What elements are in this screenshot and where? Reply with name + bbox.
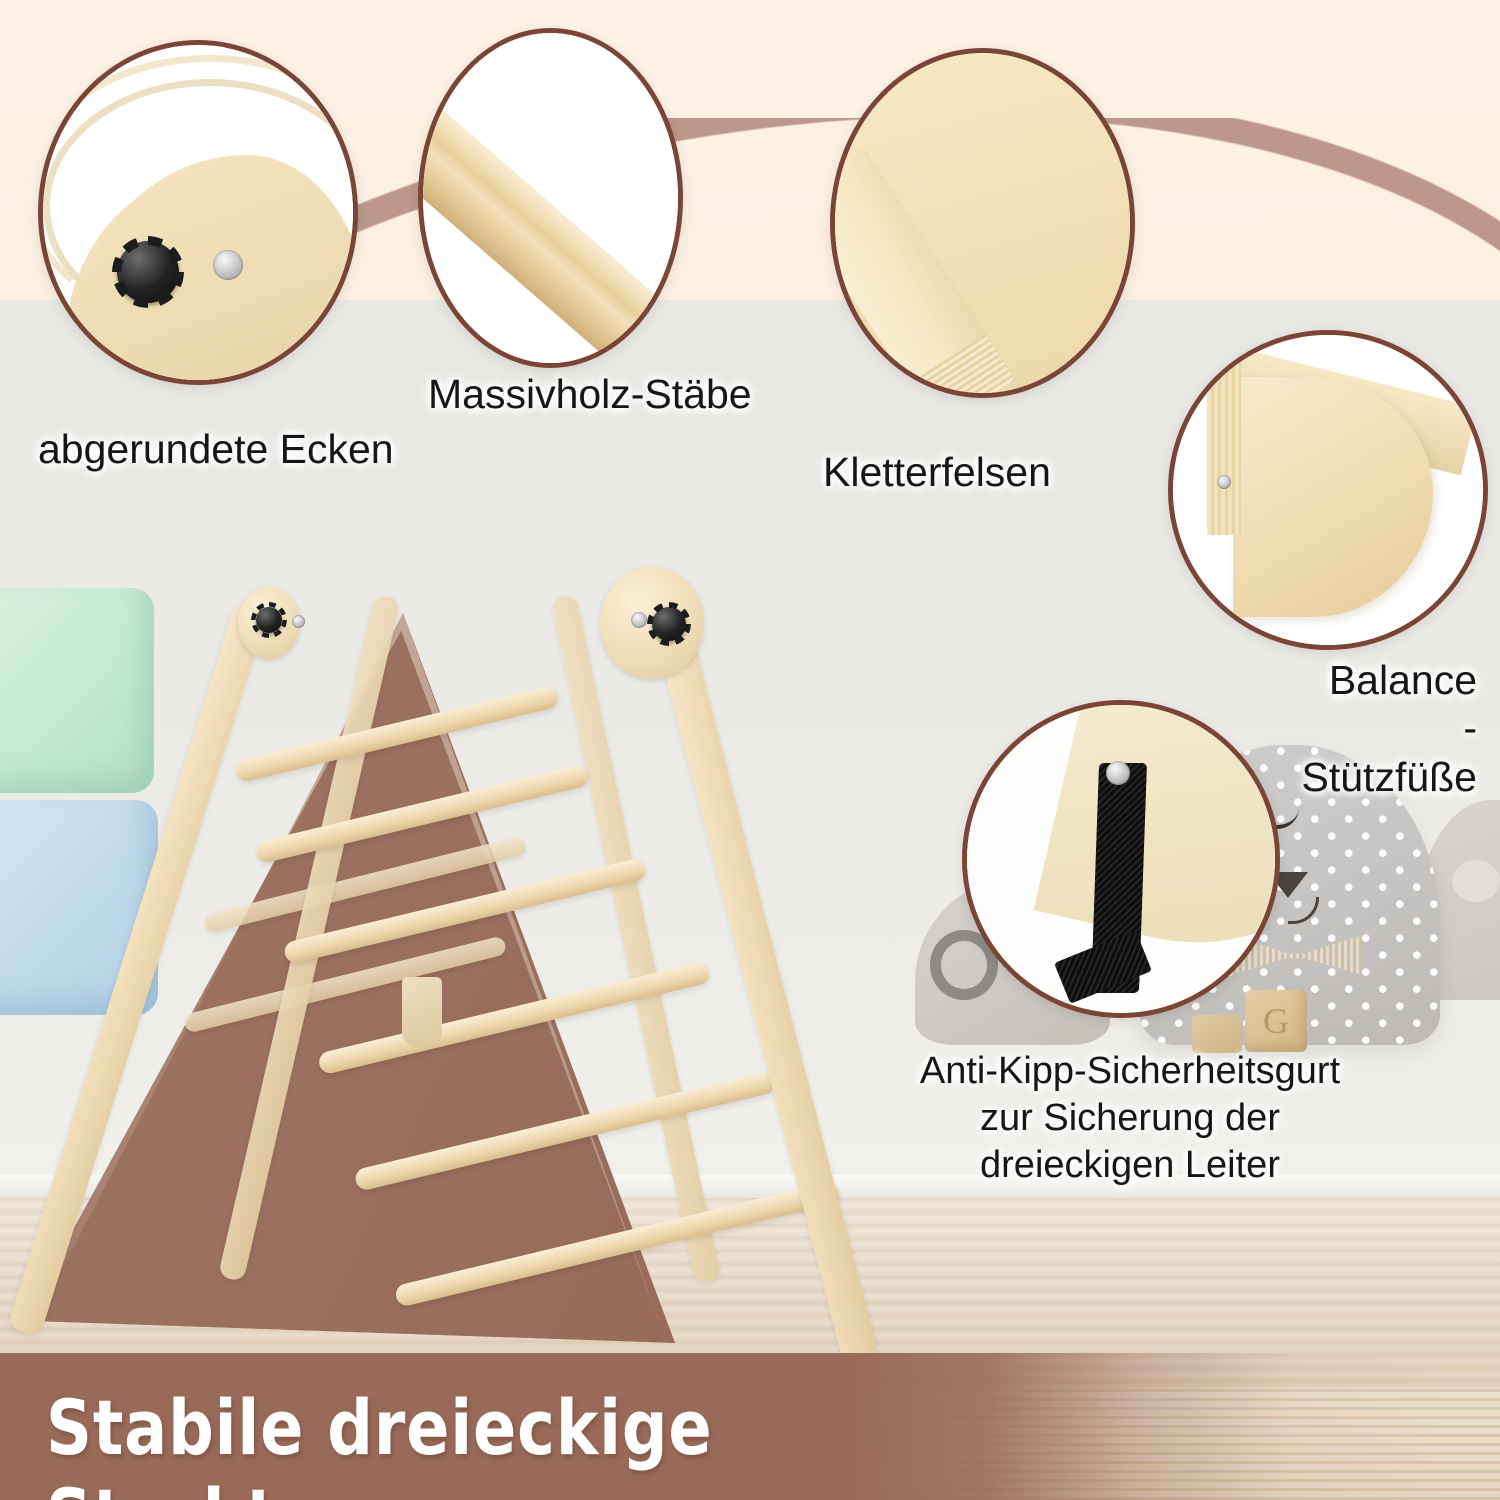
callout-label-rounded-corners: abgerundete Ecken <box>38 425 394 473</box>
callout-label-climbing-rock: Kletterfelsen <box>823 448 1051 496</box>
star-knob-left-icon <box>256 607 282 633</box>
screw-right-icon <box>631 612 647 628</box>
screw-left-icon <box>292 615 305 628</box>
star-knob-right-icon <box>652 607 686 641</box>
callout-label-balance-feet: Balance -Stützfüße <box>1292 656 1477 801</box>
callout-safety-strap-image <box>967 705 1275 1013</box>
climbing-triangle-product <box>30 545 960 1345</box>
callout-solid-wood-rods-image <box>423 33 678 363</box>
callout-solid-wood-rods[interactable] <box>418 28 683 368</box>
screw-icon <box>213 250 243 280</box>
callout-safety-strap[interactable] <box>962 700 1280 1018</box>
screw-icon <box>1106 761 1130 785</box>
cushion-dot <box>1452 860 1500 902</box>
infographic-stage: G abgeru <box>0 0 1500 1500</box>
callout-balance-feet[interactable] <box>1168 330 1488 650</box>
screw-icon <box>1217 475 1231 489</box>
banner-headline: Stabile dreieckige Struktur <box>46 1383 970 1500</box>
callout-climbing-rock[interactable] <box>830 48 1135 398</box>
balance-foot <box>402 977 442 1047</box>
callout-label-solid-wood-rods: Massivholz-Stäbe <box>428 370 752 418</box>
callout-rounded-corners[interactable] <box>38 40 358 385</box>
callout-balance-feet-image <box>1173 335 1483 645</box>
callout-climbing-rock-image <box>835 53 1130 393</box>
callout-label-safety-strap: Anti-Kipp-Sicherheitsgurt zur Sicherung … <box>905 1048 1355 1189</box>
star-knob-icon <box>117 241 179 303</box>
callout-rounded-corners-image <box>43 45 353 380</box>
